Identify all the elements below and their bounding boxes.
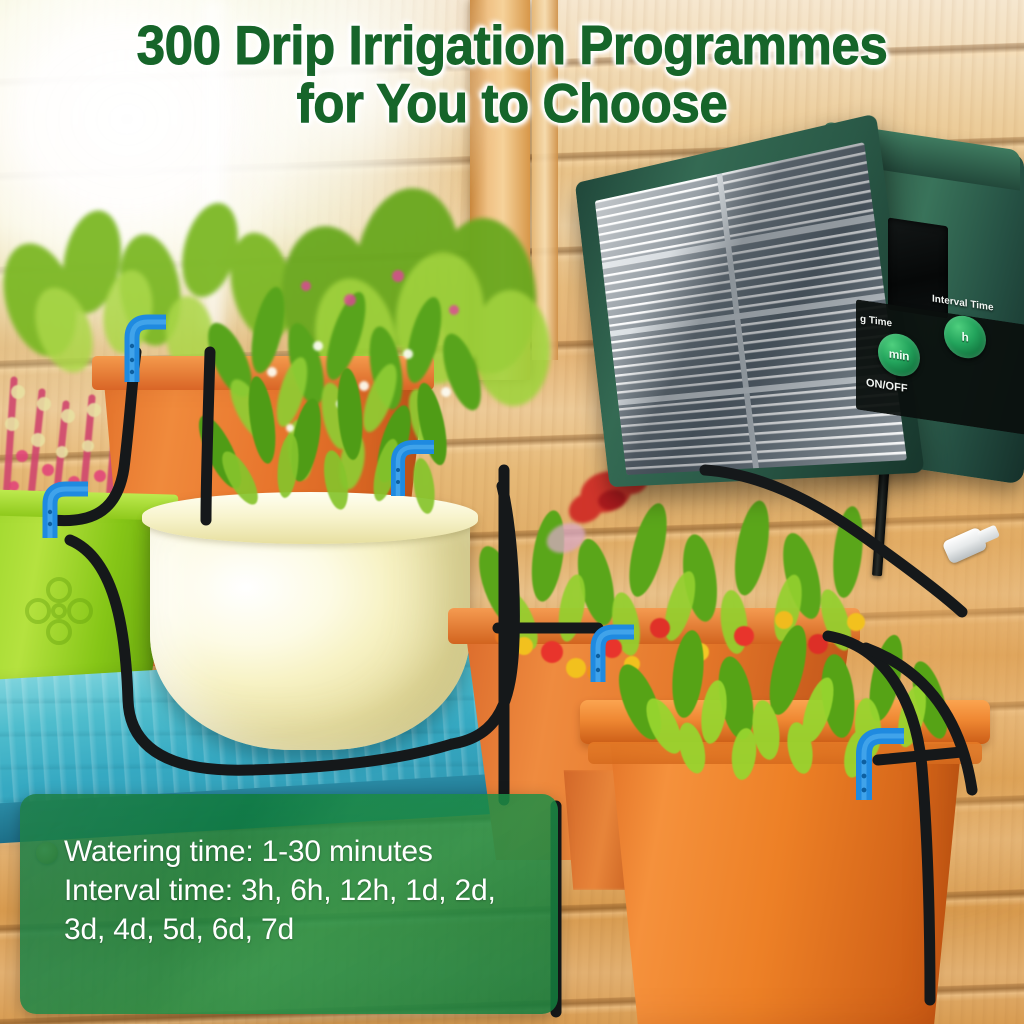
headline-line-2: for You to Choose bbox=[36, 74, 988, 132]
filter-outlet bbox=[977, 525, 1001, 545]
product-marketing-image: g Time Interval Time min h ON/OFF bbox=[0, 0, 1024, 1024]
terracotta-pot-berries-rim bbox=[448, 608, 860, 644]
caption-line-interval-time-cont: 3d, 4d, 5d, 6d, 7d bbox=[64, 910, 534, 949]
blue-dripper-stake bbox=[582, 622, 636, 684]
terracotta-pot-front-rim-lower bbox=[588, 742, 982, 764]
blue-dripper-stake bbox=[384, 438, 438, 498]
solar-drip-irrigation-timer[interactable]: g Time Interval Time min h ON/OFF bbox=[556, 130, 1024, 520]
headline-line-1: 300 Drip Irrigation Programmes bbox=[36, 16, 988, 74]
watering-time-button-glyph: min bbox=[889, 346, 909, 363]
caption-text-block: Watering time: 1-30 minutes Interval tim… bbox=[20, 794, 558, 949]
blue-dripper-stake bbox=[848, 726, 908, 802]
caption-line-interval-time: Interval time: 3h, 6h, 12h, 1d, 2d, bbox=[64, 871, 534, 910]
spec-caption-panel: Watering time: 1-30 minutes Interval tim… bbox=[20, 794, 558, 1014]
solar-panel-frame bbox=[575, 113, 925, 487]
flower-emboss-decoration bbox=[24, 576, 94, 646]
caption-line-watering-time: Watering time: 1-30 minutes bbox=[64, 832, 534, 871]
cream-pot-rim bbox=[142, 492, 478, 544]
page-title: 300 Drip Irrigation Programmes for You t… bbox=[36, 16, 988, 133]
blue-dripper-stake bbox=[118, 312, 170, 384]
terracotta-pot-front-rim bbox=[580, 700, 990, 744]
blue-dripper-stake bbox=[36, 480, 92, 540]
interval-time-button-glyph: h bbox=[961, 329, 968, 344]
